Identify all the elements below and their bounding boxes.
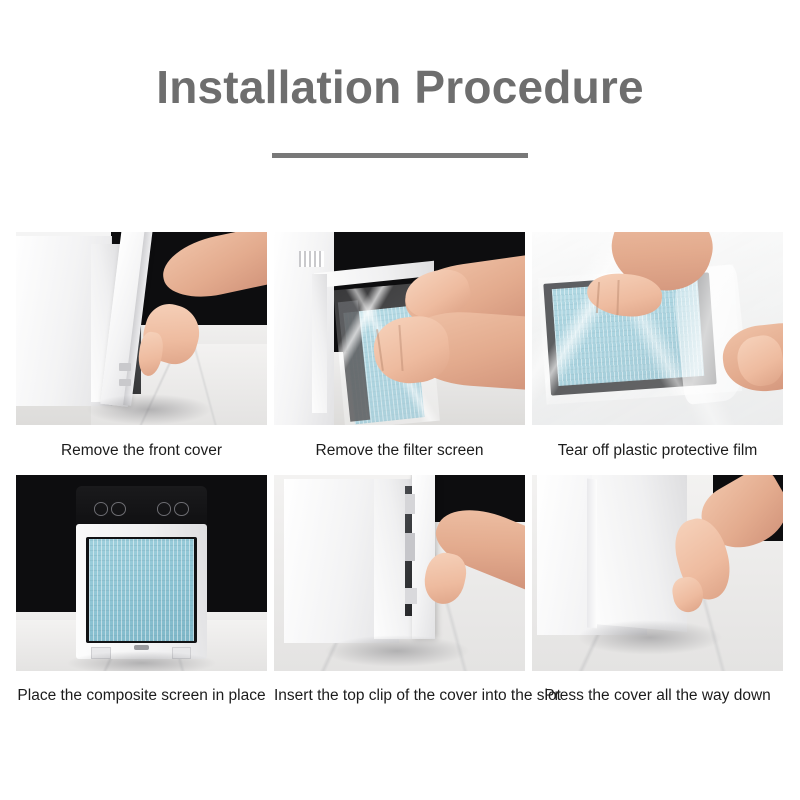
step-4-caption: Place the composite screen in place (16, 671, 267, 720)
step-card-2: Remove the filter screen (274, 232, 525, 475)
step-2-caption: Remove the filter screen (274, 425, 525, 475)
step-5-caption: Insert the top clip of the cover into th… (274, 671, 525, 720)
step-card-6: Press the cover all the way down (532, 475, 783, 720)
step-6-photo (532, 475, 783, 671)
page-title: Installation Procedure (0, 62, 800, 113)
title-divider (272, 153, 528, 158)
step-card-4: Place the composite screen in place (16, 475, 267, 720)
step-1-photo (16, 232, 267, 425)
step-6-caption: Press the cover all the way down (532, 671, 783, 720)
step-5-photo (274, 475, 525, 671)
step-card-3: Tear off plastic protective film (532, 232, 783, 475)
page-header: Installation Procedure (0, 0, 800, 158)
step-1-caption: Remove the front cover (16, 425, 267, 475)
step-3-caption: Tear off plastic protective film (532, 425, 783, 475)
step-3-photo (532, 232, 783, 425)
step-card-5: Insert the top clip of the cover into th… (274, 475, 525, 720)
installation-steps-grid: Remove the front cover (16, 232, 784, 719)
step-2-photo (274, 232, 525, 425)
step-card-1: Remove the front cover (16, 232, 267, 475)
step-4-photo (16, 475, 267, 671)
